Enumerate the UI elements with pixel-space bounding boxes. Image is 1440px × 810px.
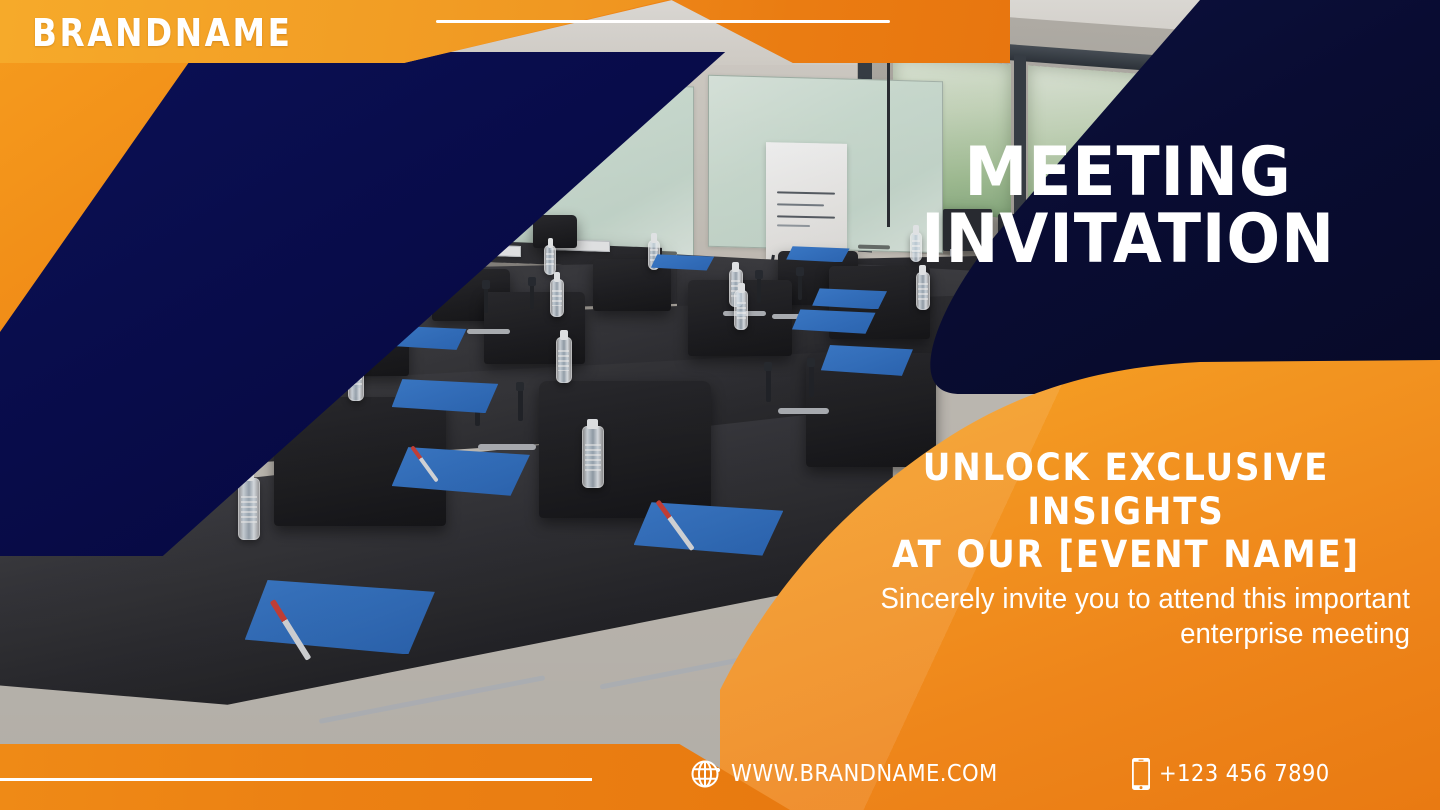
website-text: WWW.BRANDNAME.COM [731, 761, 998, 787]
meeting-invitation-poster: BRANDNAME MEETING INVITATION UNLOCK EXCL… [0, 0, 1440, 810]
subheadline-line-1: UNLOCK EXCLUSIVE INSIGHTS [859, 446, 1393, 533]
phone-icon [1131, 757, 1151, 791]
subheadline-line-2: AT OUR [EVENT NAME] [859, 533, 1393, 577]
phone-contact[interactable]: +123 456 7890 [1131, 757, 1344, 791]
subheadline: UNLOCK EXCLUSIVE INSIGHTS AT OUR [EVENT … [836, 446, 1416, 577]
brand-logo: BRANDNAME [32, 11, 293, 55]
footer-contacts: WWW.BRANDNAME.COM +123 456 7890 [690, 752, 1430, 796]
blurb-line-1: Sincerely invite you to attend this impo… [812, 582, 1411, 617]
bottom-divider-line [0, 778, 592, 781]
top-divider-line [436, 20, 890, 23]
title-line-1: MEETING [858, 140, 1397, 207]
page-title: MEETING INVITATION [838, 140, 1418, 273]
bottom-orange-bar [0, 744, 790, 810]
title-line-2: INVITATION [858, 207, 1397, 274]
blurb-line-2: enterprise meeting [812, 617, 1411, 652]
website-contact[interactable]: WWW.BRANDNAME.COM [690, 758, 1021, 790]
phone-text: +123 456 7890 [1159, 761, 1330, 787]
invitation-blurb: Sincerely invite you to attend this impo… [780, 582, 1410, 653]
globe-icon [690, 758, 722, 790]
